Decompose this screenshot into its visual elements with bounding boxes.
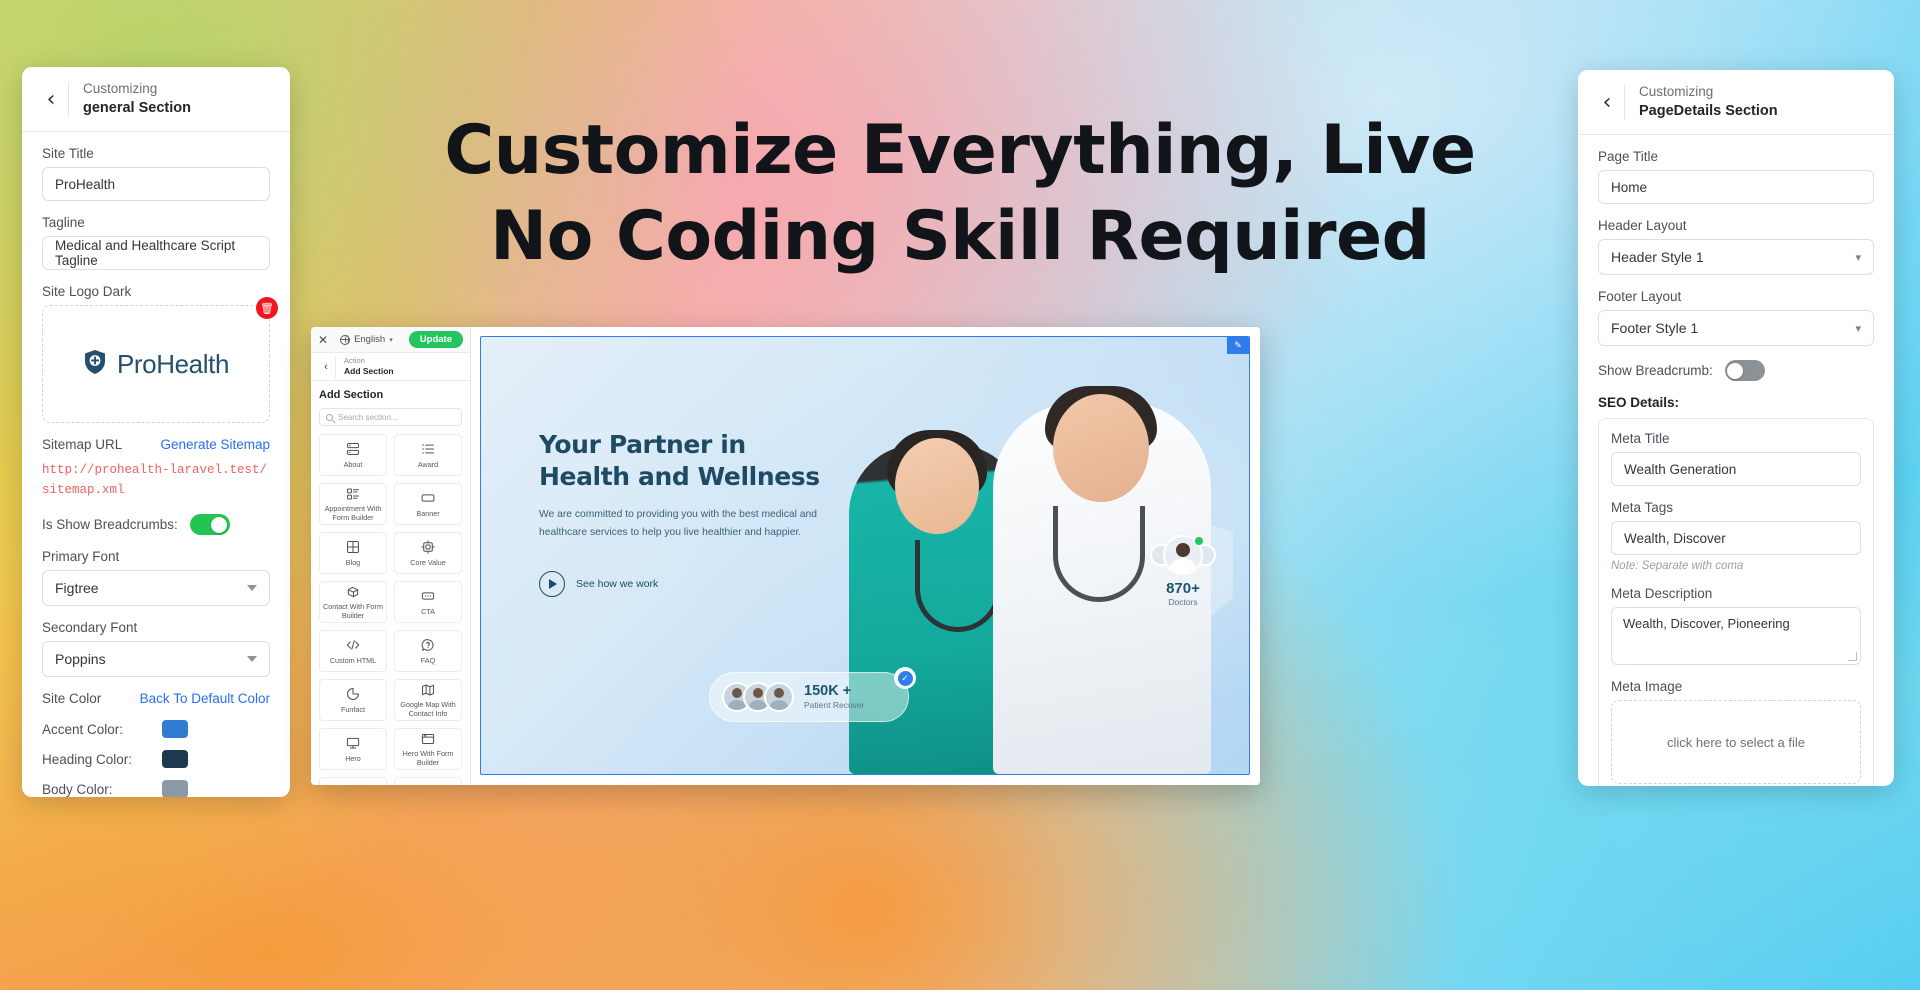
section-card[interactable]: Funfact: [319, 679, 387, 721]
section-card[interactable]: Appointment With Form Builder: [319, 483, 387, 525]
meta-tags-label: Meta Tags: [1611, 500, 1861, 515]
secondary-font-select[interactable]: Poppins: [42, 641, 270, 677]
site-logo-dark-label: Site Logo Dark: [42, 284, 270, 299]
accent-color-row: Accent Color:: [42, 720, 270, 738]
section-card-label: Banner: [413, 509, 442, 518]
footer-layout-label: Footer Layout: [1598, 289, 1874, 304]
site-title-field: Site Title ProHealth: [42, 146, 270, 201]
secondary-font-label: Secondary Font: [42, 620, 270, 635]
footer-layout-select[interactable]: Footer Style 1 ▾: [1598, 310, 1874, 346]
primary-font-select[interactable]: Figtree: [42, 570, 270, 606]
avatar: [764, 682, 794, 712]
section-card-label: Appointment With Form Builder: [320, 504, 386, 522]
page-builder-window: ✕ English ▾ Update ‹ Action Add Section …: [311, 327, 1260, 785]
search-placeholder: Search section...: [338, 413, 398, 422]
play-icon[interactable]: [539, 571, 565, 597]
section-card[interactable]: Hero: [319, 728, 387, 770]
male-head: [1053, 394, 1149, 502]
meta-tags-field: Meta Tags Wealth, Discover Note: Separat…: [1611, 500, 1861, 572]
chevron-left-icon[interactable]: ‹: [317, 361, 335, 373]
doctors-count: 870+: [1137, 580, 1229, 597]
section-card[interactable]: Core Value: [394, 532, 462, 574]
seo-details-box: Meta Title Wealth Generation Meta Tags W…: [1598, 418, 1874, 786]
section-card-label: Hero With Form Builder: [395, 749, 461, 767]
chevron-down-icon: ▾: [1855, 251, 1861, 264]
site-title-input[interactable]: ProHealth: [42, 167, 270, 201]
code-icon: [346, 638, 360, 653]
meta-description-label: Meta Description: [1611, 586, 1861, 601]
browser-icon: [421, 731, 435, 746]
page-title-input[interactable]: Home: [1598, 170, 1874, 204]
close-icon[interactable]: ✕: [318, 333, 328, 347]
heading-color-label: Heading Color:: [42, 752, 148, 767]
logo-dropzone[interactable]: 🗑 ProHealth: [42, 305, 270, 423]
headline-line-2: No Coding Skill Required: [360, 194, 1560, 280]
section-card-label: Hero: [342, 754, 364, 763]
primary-font-field: Primary Font Figtree: [42, 549, 270, 606]
header-layout-value: Header Style 1: [1611, 249, 1704, 265]
show-breadcrumbs-label: Is Show Breadcrumbs:: [42, 517, 178, 532]
action-name: Add Section: [344, 366, 394, 377]
meta-image-field: Meta Image click here to select a file: [1611, 679, 1861, 784]
action-label: Action: [344, 356, 394, 365]
stethoscope-icon: [915, 540, 1001, 632]
stethoscope-icon: [1053, 506, 1145, 602]
add-section-content: Add Section Search section... AboutAward…: [311, 381, 470, 785]
avatar-stack: [722, 682, 794, 712]
right-panel-header: ‹ Customizing PageDetails Section: [1578, 70, 1894, 135]
doctors-badge: 870+ Doctors: [1137, 535, 1229, 607]
headline-line-1: Customize Everything, Live: [360, 108, 1560, 194]
chevron-down-icon: [247, 585, 257, 591]
tagline-input[interactable]: Medical and Healthcare Script Tagline: [42, 236, 270, 270]
chevron-down-icon: [247, 656, 257, 662]
section-card-label: FAQ: [418, 656, 438, 665]
site-color-row: Site Color Back To Default Color: [42, 691, 270, 706]
update-button[interactable]: Update: [409, 331, 463, 348]
rectangle-icon: [421, 491, 435, 506]
header-layout-label: Header Layout: [1598, 218, 1874, 233]
show-breadcrumb-row: Show Breadcrumb:: [1598, 360, 1874, 381]
section-card[interactable]: About: [319, 434, 387, 476]
patients-count: 150K +: [804, 684, 864, 700]
shield-plus-icon: [83, 349, 107, 380]
search-section-input[interactable]: Search section...: [319, 408, 462, 426]
page-title-field: Page Title Home: [1598, 149, 1874, 204]
question-bubble-icon: [421, 638, 435, 653]
section-name: general Section: [83, 99, 191, 117]
chevron-left-icon[interactable]: ‹: [1590, 85, 1624, 119]
site-title-label: Site Title: [42, 146, 270, 161]
section-name: PageDetails Section: [1639, 102, 1778, 120]
chevron-down-icon: ▾: [389, 336, 393, 344]
sitemap-url-label: Sitemap URL: [42, 437, 122, 452]
section-card-label: Core Value: [407, 558, 448, 567]
pie-chart-icon: [346, 687, 360, 702]
header-divider: [68, 82, 69, 116]
form-list-icon: [346, 486, 360, 501]
hero-cta-label: See how we work: [576, 578, 658, 590]
language-label: English: [354, 334, 385, 345]
meta-title-label: Meta Title: [1611, 431, 1861, 446]
globe-icon: [340, 335, 350, 345]
tagline-label: Tagline: [42, 215, 270, 230]
section-card[interactable]: [394, 777, 462, 785]
sitemap-url-value[interactable]: http://prohealth-laravel.test/sitemap.xm…: [42, 460, 270, 500]
customizing-label: Customizing: [1639, 84, 1778, 100]
general-section-panel: ‹ Customizing general Section Site Title…: [22, 67, 290, 797]
section-card[interactable]: Hero With Form Builder: [394, 728, 462, 770]
section-card-label: Blog: [343, 558, 363, 567]
section-card[interactable]: Google Map With Contact Info: [394, 679, 462, 721]
chip-icon: [421, 540, 435, 555]
header-divider: [1624, 85, 1625, 119]
show-breadcrumbs-row: Is Show Breadcrumbs:: [42, 514, 270, 535]
primary-font-value: Figtree: [55, 580, 99, 596]
language-switcher[interactable]: English ▾: [340, 334, 393, 345]
generate-sitemap-link[interactable]: Generate Sitemap: [160, 437, 270, 452]
section-card[interactable]: FAQ: [394, 630, 462, 672]
builder-sidebar: ✕ English ▾ Update ‹ Action Add Section …: [311, 327, 471, 785]
body-color-swatch[interactable]: [162, 780, 188, 797]
chevron-down-icon: ▾: [1855, 322, 1861, 335]
footer-layout-field: Footer Layout Footer Style 1 ▾: [1598, 289, 1874, 346]
heading-color-row: Heading Color:: [42, 750, 270, 768]
dots-box-icon: [421, 589, 435, 604]
show-breadcrumbs-toggle[interactable]: [190, 514, 230, 535]
trash-icon[interactable]: 🗑: [256, 297, 278, 319]
patients-label: Patient Recover: [804, 700, 864, 710]
body-color-row: Body Color:: [42, 780, 270, 797]
section-card-label: CTA: [418, 607, 438, 616]
sitemap-field: Sitemap URL Generate Sitemap http://proh…: [42, 437, 270, 500]
secondary-font-value: Poppins: [55, 651, 106, 667]
search-icon: [326, 414, 333, 421]
monitor-icon: [346, 736, 360, 751]
customizing-label: Customizing: [83, 81, 191, 97]
page-headline: Customize Everything, Live No Coding Ski…: [360, 108, 1560, 279]
show-breadcrumb-label: Show Breadcrumb:: [1598, 363, 1713, 378]
heading-color-swatch[interactable]: [162, 750, 188, 768]
section-grid: AboutAwardAppointment With Form BuilderB…: [319, 434, 462, 785]
meta-image-label: Meta Image: [1611, 679, 1861, 694]
grid-icon: [346, 540, 360, 555]
page-title-label: Page Title: [1598, 149, 1874, 164]
section-card-label: Google Map With Contact Info: [395, 700, 461, 718]
builder-actionbar: ‹ Action Add Section: [311, 353, 470, 381]
body-color-label: Body Color:: [42, 782, 148, 797]
section-card-label: Contact With Form Builder: [320, 602, 386, 620]
primary-font-label: Primary Font: [42, 549, 270, 564]
pagedetails-section-panel: ‹ Customizing PageDetails Section Page T…: [1578, 70, 1894, 786]
accent-color-label: Accent Color:: [42, 722, 148, 737]
accent-color-swatch[interactable]: [162, 720, 188, 738]
show-breadcrumb-toggle[interactable]: [1725, 360, 1765, 381]
map-icon: [421, 682, 435, 697]
section-card-label: About: [341, 460, 366, 469]
section-card[interactable]: Contact With Form Builder: [319, 581, 387, 623]
meta-title-input[interactable]: Wealth Generation: [1611, 452, 1861, 486]
hero-section-preview[interactable]: ✎ Your Partner in Health and Wellness We…: [480, 336, 1250, 775]
tagline-field: Tagline Medical and Healthcare Script Ta…: [42, 215, 270, 270]
meta-title-field: Meta Title Wealth Generation: [1611, 431, 1861, 486]
meta-image-filepicker[interactable]: click here to select a file: [1611, 700, 1861, 784]
site-color-label: Site Color: [42, 691, 101, 706]
logo-text: ProHealth: [117, 349, 229, 380]
live-preview: ✎ Your Partner in Health and Wellness We…: [471, 327, 1260, 785]
box-3d-icon: [346, 584, 360, 599]
builder-topbar: ✕ English ▾ Update: [311, 327, 470, 353]
section-card-label: Custom HTML: [327, 656, 379, 665]
meta-tags-input[interactable]: Wealth, Discover: [1611, 521, 1861, 555]
section-card[interactable]: Blog: [319, 532, 387, 574]
list-icon: [421, 442, 435, 457]
chevron-left-icon[interactable]: ‹: [34, 82, 68, 116]
doctor-avatars: [1137, 535, 1229, 575]
section-card-label: Award: [415, 460, 441, 469]
server-rows-icon: [346, 442, 360, 457]
section-card[interactable]: [319, 777, 387, 785]
section-card[interactable]: Banner: [394, 483, 462, 525]
section-card[interactable]: Award: [394, 434, 462, 476]
add-section-title: Add Section: [319, 389, 462, 401]
section-card[interactable]: Custom HTML: [319, 630, 387, 672]
footer-layout-value: Footer Style 1: [1611, 320, 1698, 336]
meta-description-field: Meta Description Wealth, Discover, Pione…: [1611, 586, 1861, 665]
meta-description-textarea[interactable]: Wealth, Discover, Pioneering: [1611, 607, 1861, 665]
header-layout-field: Header Layout Header Style 1 ▾: [1598, 218, 1874, 275]
back-to-default-color-link[interactable]: Back To Default Color: [140, 691, 270, 706]
header-layout-select[interactable]: Header Style 1 ▾: [1598, 239, 1874, 275]
patients-badge: 150K + Patient Recover ✓: [709, 672, 909, 722]
secondary-font-field: Secondary Font Poppins: [42, 620, 270, 677]
doctors-label: Doctors: [1137, 597, 1229, 607]
section-card[interactable]: CTA: [394, 581, 462, 623]
section-card-label: Funfact: [338, 705, 368, 714]
check-icon: ✓: [894, 667, 916, 689]
left-panel-header: ‹ Customizing general Section: [22, 67, 290, 132]
meta-tags-note: Note: Separate with coma: [1611, 560, 1861, 572]
status-dot: [1195, 537, 1203, 545]
seo-details-title: SEO Details:: [1598, 395, 1874, 410]
site-logo-dark-field: Site Logo Dark 🗑 ProHealth: [42, 284, 270, 423]
female-head: [895, 438, 979, 534]
